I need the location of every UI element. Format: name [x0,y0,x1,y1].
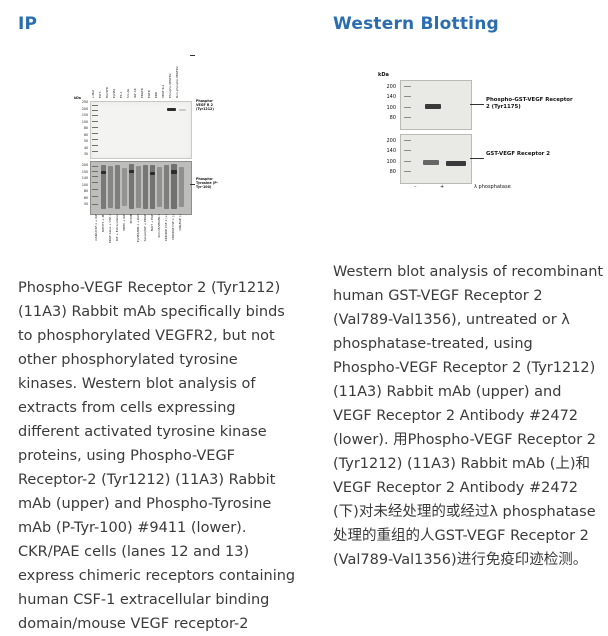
blot-band [446,161,466,166]
wb-bottom-label: GST-VEGF Receptor 2 [486,151,566,158]
ip-caption-text: Phospho-VEGF Receptor 2 (Tyr1212) (11A3)… [18,276,300,636]
mw-marker: 200 [378,85,396,90]
blot-lane [108,166,113,208]
page-root: IP c-Met FLT3 M-CSFR EphB2 Flt-1 Src-Ab … [0,0,608,564]
leader-line [470,104,484,105]
mw-marker: 30 [72,153,88,160]
blot-lane [115,165,120,209]
mw-marker: 140 [378,95,396,100]
mw-marker: 80 [378,116,396,121]
mw-marker: 80 [378,170,396,175]
wb-kda-caption: kDa [378,72,389,78]
ip-blot-lower [90,161,192,215]
blot-band [101,171,106,174]
ip-lane-labels-bottom: mSRC/CSF-1 + IGF NIH3T3 + PL PDGF-bless … [92,214,192,266]
leader-line [190,184,195,185]
wb-panel-total [400,134,472,184]
lane-label: EphB2 [113,89,116,98]
ip-blot-assembly: c-Met FLT3 M-CSFR EphB2 Flt-1 Src-Ab IGF… [70,48,212,218]
ip-mw-markers-upper: 250 200 150 100 80 60 50 40 30 [72,101,88,160]
ip-kda-caption: kDa [74,96,81,100]
lane-label: CKR/PAE (-) [179,214,182,230]
blot-band [167,108,176,111]
lane-label: Flt-1 [120,92,123,98]
figure-ip-blot: c-Met FLT3 M-CSFR EphB2 Flt-1 Src-Ab IGF… [0,48,318,220]
lane-label: EphB4/IRB-1 + RAS [137,214,140,242]
lane-label: PC3/IB [130,214,133,223]
lane-label: IGF-1R [134,88,137,98]
lane-label: KDR [155,92,158,98]
ip-lane-labels-top: c-Met FLT3 M-CSFR EphB2 Flt-1 Src-Ab IGF… [92,48,192,98]
lane-label: CKR/PAE CSF-1 (+) [165,214,168,241]
lane-label: PDGF-bless + CSF-1 [109,214,112,243]
lane-label: EGFR [148,90,151,98]
blot-lane [164,165,169,209]
lane-label: Serum/IGF + PDGF [144,214,147,241]
lane-label: CKR/PAE CSF-1 (-) [172,214,175,240]
lane-label: WEHI + IGF [123,214,126,231]
blot-band [171,170,177,174]
mw-marker: 140 [378,149,396,154]
lane-label: IGF + Extracellular [116,214,119,241]
column-western-blotting: Western Blotting kDa 200 140 100 80 Phos… [318,0,608,572]
ip-lower-blot-label: Phospho-Tyrosine (P-Tyr-100) [196,177,220,189]
wb-top-label: Phospho-GST-VEGF Receptor 2 (Tyr1175) [486,97,574,110]
page-title-western-blotting: Western Blotting [318,0,608,34]
blot-band [129,170,134,173]
ip-upper-blot-label: Phospho-VEGF R 2 (Tyr1212) [196,99,220,111]
lane-label: M-CSFR [106,87,109,98]
blot-lane [157,167,162,207]
wb-panel-phospho [400,80,472,130]
ladder-upper [91,102,99,158]
blot-lane [179,167,184,207]
lane-label: PDGFR [141,88,144,98]
page-title-ip: IP [0,0,318,34]
blot-lane [122,168,127,206]
mw-marker: 50 [72,203,88,210]
mw-marker: 200 [378,139,396,144]
leader-line [190,55,195,56]
lane-label: mSRC/CSF-1 + IGF [95,214,98,241]
blot-band [179,109,186,111]
ip-caption-block: Phospho-VEGF Receptor 2 (Tyr1212) (11A3)… [0,276,318,636]
blot-band [425,104,441,109]
lane-label: c-Met [92,90,95,98]
lane-label: Phospho-VEGFR2 [169,73,172,98]
blot-band [150,172,155,175]
mw-marker: 100 [378,160,396,165]
lane-label: FLT3 [99,92,102,98]
wb-axis-plus: + [440,184,444,190]
lane-label: VEGF R-2 [162,85,165,98]
wb-blot-assembly: kDa 200 140 100 80 Phospho-GST-VEGF Rece… [378,68,578,198]
ladder-lower [91,162,99,214]
blot-band [423,160,439,165]
leader-line [470,158,484,159]
lane-label: DU145/VEGFR-1 [158,214,161,237]
wb-caption-block: Western blot analysis of recombinant hum… [318,260,608,572]
lane-label: Non-phospho-VEGFR2 [176,66,179,98]
column-ip: IP c-Met FLT3 M-CSFR EphB2 Flt-1 Src-Ab … [0,0,318,636]
lane-label: NIH3T3 + PL [102,214,105,232]
wb-axis-minus: – [414,184,417,190]
lane-label: Src-Ab [127,89,130,98]
blot-lane [143,165,148,209]
wb-caption-text: Western blot analysis of recombinant hum… [333,260,604,572]
ip-mw-markers-lower: 200 150 140 100 80 60 50 [72,164,88,210]
wb-axis-label: λ phosphatase [474,184,511,190]
mw-marker: 100 [378,106,396,111]
ip-blot-upper [90,101,192,159]
figure-wb-blot: kDa 200 140 100 80 Phospho-GST-VEGF Rece… [318,68,608,204]
lane-label: MAIT + EGF [151,214,154,231]
blot-lane [136,166,141,208]
